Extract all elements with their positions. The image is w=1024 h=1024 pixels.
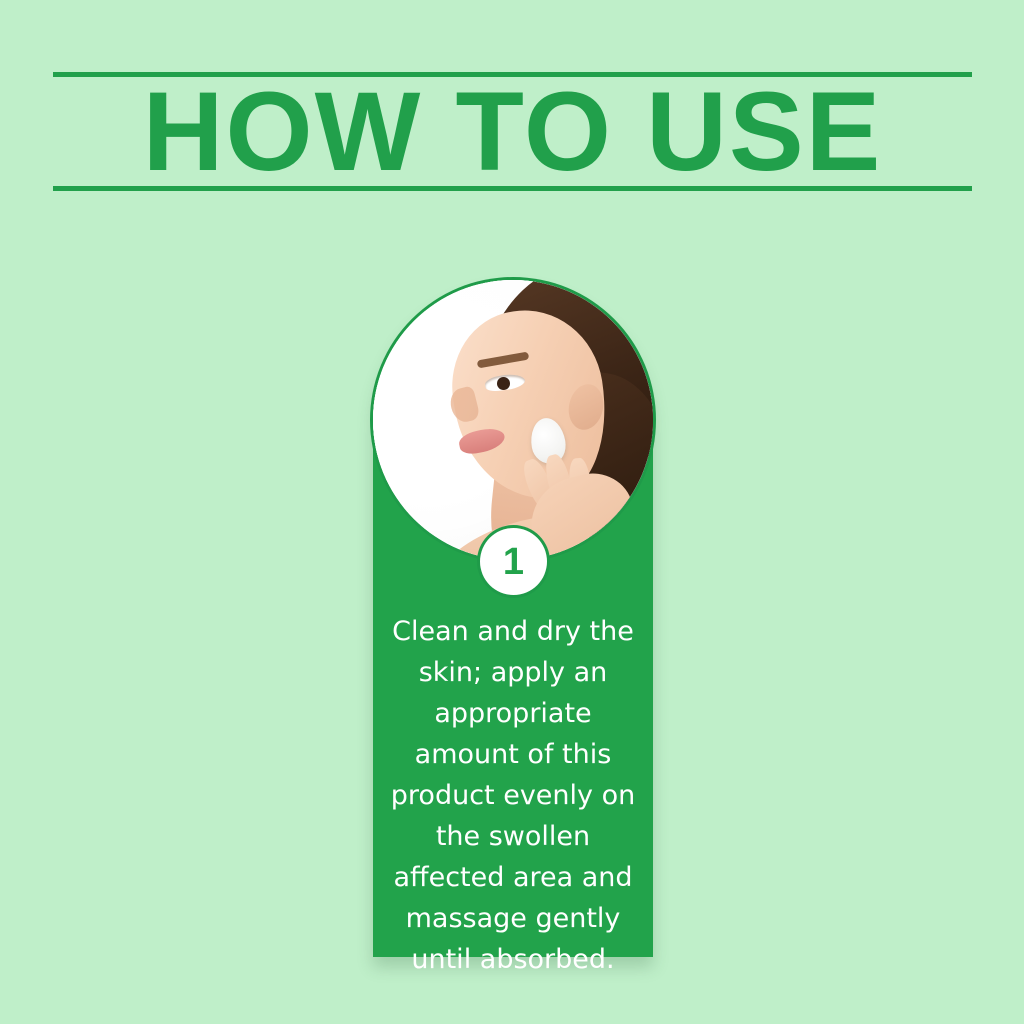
photo-pupil (497, 377, 510, 390)
step-photo-image (373, 280, 653, 560)
poster-canvas: HOW TO USE (0, 0, 1024, 1024)
header: HOW TO USE (53, 72, 972, 192)
step-description: Clean and dry the skin; apply an appropr… (385, 611, 641, 980)
step-photo (373, 280, 653, 560)
step-number-label: 1 (503, 543, 524, 581)
step-number-badge: 1 (480, 528, 547, 595)
step-card: 1 Clean and dry the skin; apply an appro… (373, 280, 653, 957)
page-title: HOW TO USE (53, 78, 972, 186)
title-rule-bottom (53, 186, 972, 191)
